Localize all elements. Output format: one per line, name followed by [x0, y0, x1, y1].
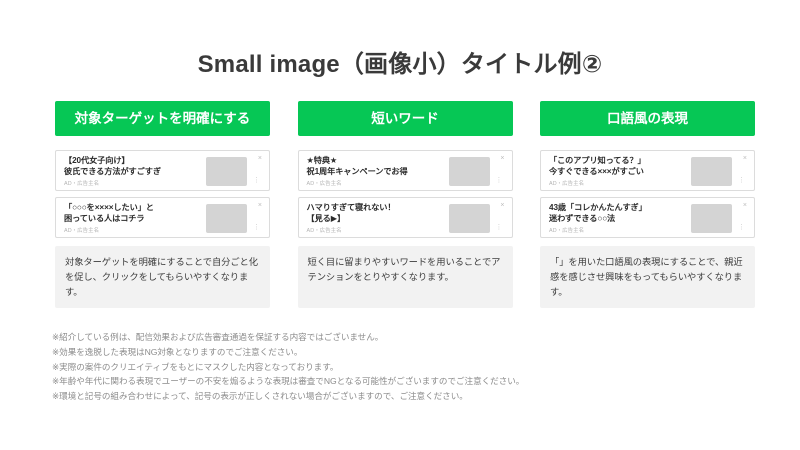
- column-3-description: 「」を用いた口語風の表現にすることで、親近感を感じさせ興味をもってもらいやすくな…: [540, 246, 755, 308]
- ad-card-line2: 祝1周年キャンペーンでお得: [307, 167, 449, 178]
- ad-card[interactable]: ハマりすぎて寝れない！ 【見る▶】 AD・広告主名 × ⋮: [298, 197, 513, 238]
- footnote-item: ※年齢や年代に関わる表現でユーザーの不安を煽るような表現は審査でNGとなる可能性…: [52, 374, 752, 389]
- ad-card-line2: 困っている人はコチラ: [64, 214, 206, 225]
- ad-card[interactable]: ★特典★ 祝1周年キャンペーンでお得 AD・広告主名 × ⋮: [298, 150, 513, 191]
- down-triangle-icon: [397, 135, 413, 136]
- footnote-item: ※紹介している例は、配信効果および広告審査通過を保証する内容ではございません。: [52, 330, 752, 345]
- footnotes: ※紹介している例は、配信効果および広告審査通過を保証する内容ではございません。 …: [52, 330, 752, 404]
- column-1-header: 対象ターゲットを明確にする: [55, 101, 270, 136]
- ad-card-line2: 今すぐできる×××がすごい: [549, 167, 691, 178]
- more-options-icon[interactable]: ⋮: [738, 177, 745, 184]
- ad-card-advertiser: AD・広告主名: [64, 179, 206, 187]
- column-2-header: 短いワード: [298, 101, 513, 136]
- ad-card-text: 【20代女子向け】 彼氏できる方法がすごすぎ AD・広告主名: [64, 156, 206, 187]
- more-options-icon[interactable]: ⋮: [496, 177, 503, 184]
- ad-thumbnail: [691, 157, 732, 186]
- ad-card-line2: 迷わずできる○○法: [549, 214, 691, 225]
- more-options-icon[interactable]: ⋮: [253, 177, 260, 184]
- page-title: Small image（画像小）タイトル例②: [0, 44, 800, 79]
- close-icon[interactable]: ×: [500, 202, 504, 209]
- column-1-header-label: 対象ターゲットを明確にする: [75, 111, 251, 126]
- ad-card-line2: 彼氏できる方法がすごすぎ: [64, 167, 206, 178]
- footnote-item: ※環境と記号の組み合わせによって、記号の表示が正しくされない場合がございますので…: [52, 389, 752, 404]
- ad-thumbnail: [691, 204, 732, 233]
- ad-card-advertiser: AD・広告主名: [64, 226, 206, 234]
- ad-card-line1: 43歳「コレかんたんすぎ」: [549, 203, 691, 214]
- ad-thumbnail: [449, 204, 490, 233]
- column-1: 対象ターゲットを明確にする 【20代女子向け】 彼氏できる方法がすごすぎ AD・…: [55, 101, 270, 308]
- columns-container: 対象ターゲットを明確にする 【20代女子向け】 彼氏できる方法がすごすぎ AD・…: [55, 101, 755, 308]
- close-icon[interactable]: ×: [743, 155, 747, 162]
- ad-card-line1: 「このアプリ知ってる？」: [549, 156, 691, 167]
- close-icon[interactable]: ×: [500, 155, 504, 162]
- slide-canvas: Small image（画像小）タイトル例② 対象ターゲットを明確にする 【20…: [0, 0, 800, 450]
- ad-thumbnail: [206, 157, 247, 186]
- ad-card-line1: 【20代女子向け】: [64, 156, 206, 167]
- ad-card-line1: ★特典★: [307, 156, 449, 167]
- ad-card-text: 43歳「コレかんたんすぎ」 迷わずできる○○法 AD・広告主名: [549, 203, 691, 234]
- footnote-item: ※効果を逸脱した表現はNG対象となりますのでご注意ください。: [52, 345, 752, 360]
- column-2-ad-list: ★特典★ 祝1周年キャンペーンでお得 AD・広告主名 × ⋮ ハマりすぎて寝れな…: [298, 150, 513, 238]
- more-options-icon[interactable]: ⋮: [496, 224, 503, 231]
- ad-card[interactable]: 「○○○を××××したい」と 困っている人はコチラ AD・広告主名 × ⋮: [55, 197, 270, 238]
- ad-card-advertiser: AD・広告主名: [307, 179, 449, 187]
- ad-card-text: 「このアプリ知ってる？」 今すぐできる×××がすごい AD・広告主名: [549, 156, 691, 187]
- ad-card-advertiser: AD・広告主名: [307, 226, 449, 234]
- ad-card-text: ★特典★ 祝1周年キャンペーンでお得 AD・広告主名: [307, 156, 449, 187]
- ad-card-line1: ハマりすぎて寝れない！: [307, 203, 449, 214]
- down-triangle-icon: [640, 135, 656, 136]
- column-3: 口語風の表現 「このアプリ知ってる？」 今すぐできる×××がすごい AD・広告主…: [540, 101, 755, 308]
- column-2: 短いワード ★特典★ 祝1周年キャンペーンでお得 AD・広告主名 × ⋮: [298, 101, 513, 308]
- ad-card-text: 「○○○を××××したい」と 困っている人はコチラ AD・広告主名: [64, 203, 206, 234]
- close-icon[interactable]: ×: [743, 202, 747, 209]
- ad-card-line2: 【見る▶】: [307, 214, 449, 225]
- ad-card[interactable]: 43歳「コレかんたんすぎ」 迷わずできる○○法 AD・広告主名 × ⋮: [540, 197, 755, 238]
- ad-card-line1: 「○○○を××××したい」と: [64, 203, 206, 214]
- ad-card[interactable]: 「このアプリ知ってる？」 今すぐできる×××がすごい AD・広告主名 × ⋮: [540, 150, 755, 191]
- close-icon[interactable]: ×: [258, 155, 262, 162]
- column-2-header-label: 短いワード: [371, 111, 439, 126]
- ad-card-advertiser: AD・広告主名: [549, 179, 691, 187]
- ad-card-advertiser: AD・広告主名: [549, 226, 691, 234]
- ad-card-text: ハマりすぎて寝れない！ 【見る▶】 AD・広告主名: [307, 203, 449, 234]
- ad-thumbnail: [449, 157, 490, 186]
- close-icon[interactable]: ×: [258, 202, 262, 209]
- column-3-header-label: 口語風の表現: [607, 111, 688, 126]
- more-options-icon[interactable]: ⋮: [253, 224, 260, 231]
- ad-card[interactable]: 【20代女子向け】 彼氏できる方法がすごすぎ AD・広告主名 × ⋮: [55, 150, 270, 191]
- ad-thumbnail: [206, 204, 247, 233]
- more-options-icon[interactable]: ⋮: [738, 224, 745, 231]
- column-1-description: 対象ターゲットを明確にすることで自分ごと化を促し、クリックをしてもらいやすくなり…: [55, 246, 270, 308]
- column-3-ad-list: 「このアプリ知ってる？」 今すぐできる×××がすごい AD・広告主名 × ⋮ 4…: [540, 150, 755, 238]
- down-triangle-icon: [155, 135, 171, 136]
- column-3-header: 口語風の表現: [540, 101, 755, 136]
- column-1-ad-list: 【20代女子向け】 彼氏できる方法がすごすぎ AD・広告主名 × ⋮ 「○○○を…: [55, 150, 270, 238]
- footnote-item: ※実際の案件のクリエイティブをもとにマスクした内容となっております。: [52, 360, 752, 375]
- column-2-description: 短く目に留まりやすいワードを用いることでアテンションをとりやすくなります。: [298, 246, 513, 308]
